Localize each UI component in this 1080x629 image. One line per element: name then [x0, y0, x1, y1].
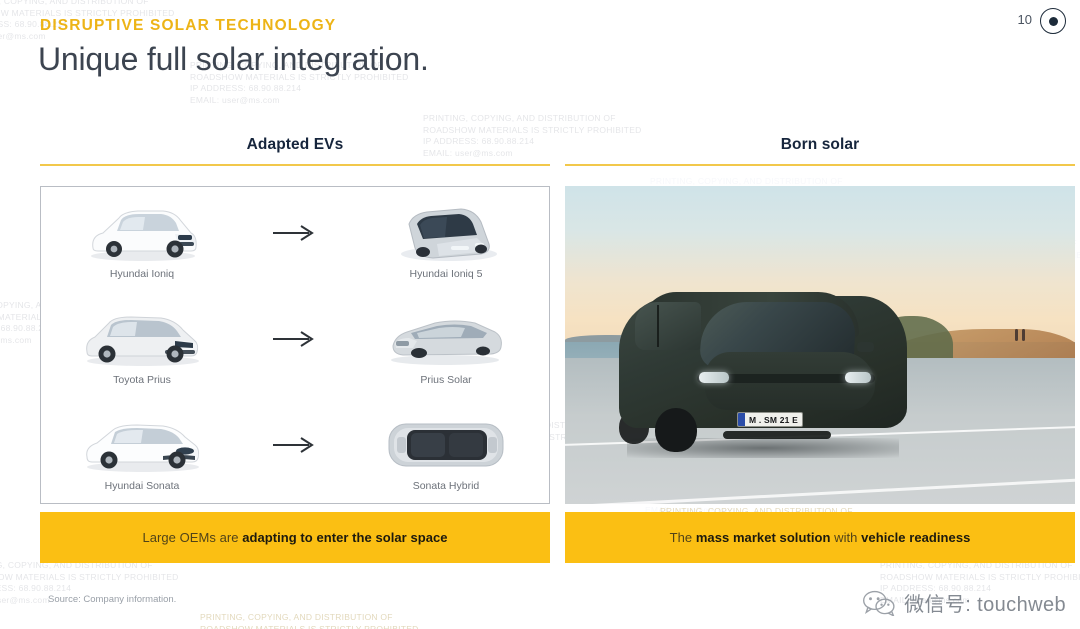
ev-comparison-row: Hyundai Ioniq	[41, 187, 549, 293]
column-heading-label: Adapted EVs	[40, 136, 550, 164]
column-header-adapted-evs: Adapted EVs	[40, 136, 550, 166]
ev-solar-cell: Prius Solar	[345, 306, 547, 386]
ev-solar-label: Prius Solar	[345, 374, 547, 386]
circle-dot-logo-icon	[1040, 8, 1066, 34]
license-plate-text: M . SM 21 E	[745, 415, 802, 425]
white-sedan-front-three-quarter-icon	[41, 200, 243, 266]
wechat-handle: 微信号: touchweb	[904, 588, 1066, 617]
arrow-right-icon	[243, 435, 345, 469]
ev-solar-cell: Sonata Hybrid	[345, 412, 547, 492]
adapted-evs-panel: Hyundai Ioniq	[40, 186, 550, 504]
watermark-block: PRINTING, COPYING, AND DISTRIBUTION OF R…	[200, 612, 419, 629]
eu-plate-strip	[738, 413, 745, 426]
ev-base-label: Toyota Prius	[41, 374, 243, 386]
ev-base-label: Hyundai Sonata	[41, 480, 243, 492]
callout-bold-1: mass market solution	[696, 530, 831, 545]
column-heading-label: Born solar	[565, 136, 1075, 164]
white-sonata-front-three-quarter-icon	[41, 412, 243, 478]
column-rule	[40, 164, 550, 166]
wechat-icon	[862, 590, 896, 616]
sion-solar-car: M . SM 21 E	[613, 268, 913, 454]
callout-adapted-evs: Large OEMs are adapting to enter the sol…	[40, 512, 550, 563]
callout-text: The mass market solution with vehicle re…	[670, 530, 971, 545]
sono-motors-sion-solar-car-on-coastal-road: M . SM 21 E	[565, 186, 1075, 504]
callout-born-solar: The mass market solution with vehicle re…	[565, 512, 1075, 563]
arrow-right-icon	[243, 329, 345, 363]
ev-base-label: Hyundai Ioniq	[41, 268, 243, 280]
slide-eyebrow: DISRUPTIVE SOLAR TECHNOLOGY	[40, 17, 336, 35]
ev-base-cell: Hyundai Sonata	[41, 412, 243, 492]
silver-hatchback-top-front-solar-roof-icon	[345, 200, 547, 266]
callout-bold-2: vehicle readiness	[861, 530, 970, 545]
ev-base-cell: Toyota Prius	[41, 306, 243, 386]
callout-plain-1: The	[670, 530, 696, 545]
ev-base-cell: Hyundai Ioniq	[41, 200, 243, 280]
ev-comparison-row: Hyundai Sonata	[41, 399, 549, 505]
ev-comparison-row: Toyota Prius	[41, 293, 549, 399]
car-lower-grille	[723, 431, 831, 439]
callout-plain-1: Large OEMs are	[142, 530, 242, 545]
presentation-slide: DISRUPTIVE SOLAR TECHNOLOGY Unique full …	[0, 0, 1080, 629]
ev-solar-cell: Hyundai Ioniq 5	[345, 200, 547, 280]
license-plate: M . SM 21 E	[737, 412, 803, 427]
arrow-right-icon	[243, 223, 345, 257]
callout-plain-2: with	[830, 530, 861, 545]
headlight-right-icon	[845, 372, 871, 383]
sonata-top-view-solar-roof-icon	[345, 412, 547, 478]
headlight-left-icon	[699, 372, 729, 383]
ev-solar-label: Hyundai Ioniq 5	[345, 268, 547, 280]
front-wheel	[655, 408, 697, 452]
car-side-window	[635, 302, 701, 350]
people-silhouette	[1015, 329, 1029, 342]
wechat-watermark: 微信号: touchweb	[862, 588, 1066, 617]
page-number: 10	[1018, 12, 1032, 27]
callout-text: Large OEMs are adapting to enter the sol…	[142, 530, 447, 545]
ev-solar-label: Sonata Hybrid	[345, 480, 547, 492]
source-note: Source: Company information.	[48, 594, 176, 605]
car-side-mirror	[857, 342, 874, 352]
column-rule	[565, 164, 1075, 166]
callout-bold-1: adapting to enter the solar space	[242, 530, 447, 545]
page-title: Unique full solar integration.	[38, 41, 429, 78]
silver-prius-rear-three-quarter-solar-roof-icon	[345, 306, 547, 372]
silver-prius-front-three-quarter-icon	[41, 306, 243, 372]
column-header-born-solar: Born solar	[565, 136, 1075, 166]
